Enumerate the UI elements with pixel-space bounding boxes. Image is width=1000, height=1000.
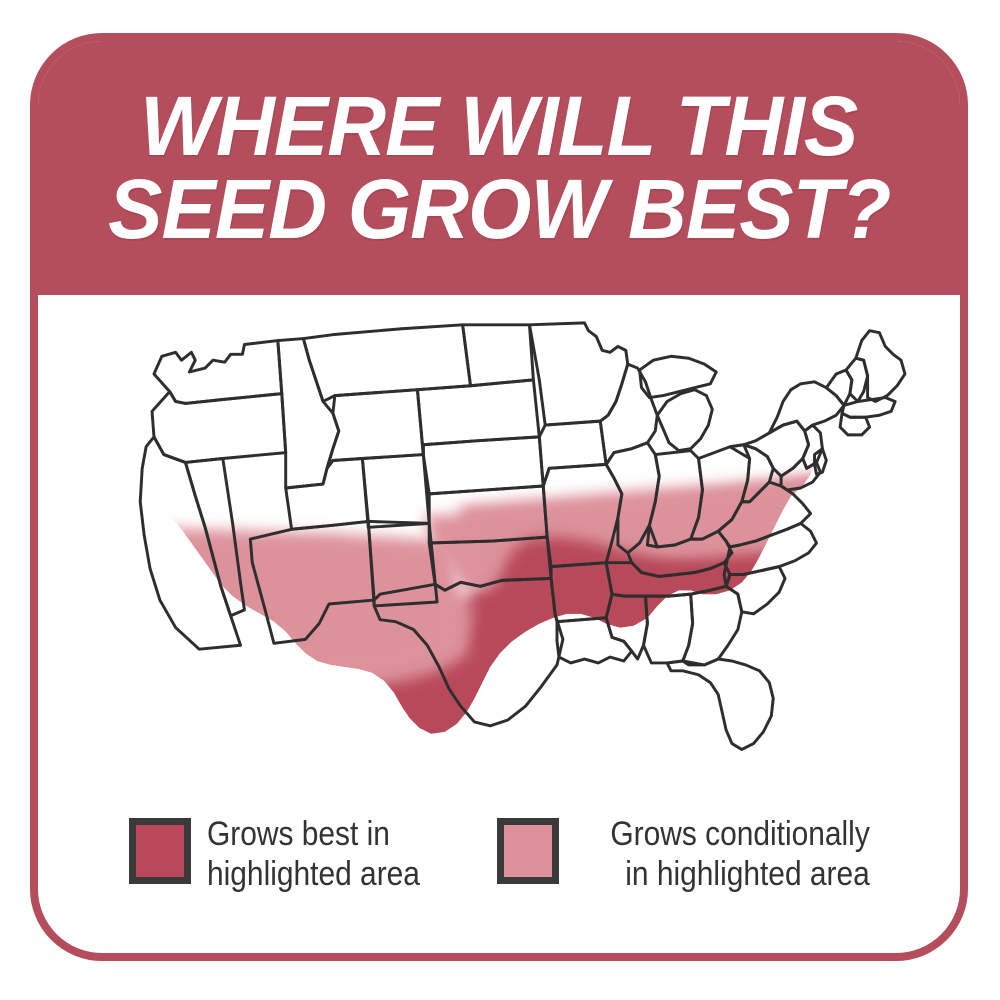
legend-label-grows-best: Grows best in highlighted area xyxy=(207,815,420,895)
state-oregon xyxy=(152,392,286,463)
page-title-line-2: SEED GROW BEST? xyxy=(108,169,890,250)
legend-item-grows-best: Grows best in highlighted area xyxy=(129,815,449,895)
legend-label-grows-best-line1: Grows best in xyxy=(207,815,420,855)
state-montana xyxy=(303,325,470,402)
state-iowa xyxy=(539,421,606,486)
card-header: WHERE WILL THIS SEED GROW BEST? xyxy=(38,41,960,295)
legend-label-grows-conditionally-line2: in highlighted area xyxy=(610,855,869,895)
state-utah xyxy=(286,459,369,530)
state-nebraska xyxy=(423,437,543,494)
state-florida xyxy=(667,659,773,749)
state-michigan xyxy=(657,390,712,451)
state-minnesota xyxy=(529,323,627,425)
state-michigan-up xyxy=(640,356,717,397)
page-title-line-1: WHERE WILL THIS xyxy=(140,86,857,167)
legend-swatch-grows-best xyxy=(129,818,191,884)
legend-item-grows-conditionally: Grows conditionally in highlighted area xyxy=(497,815,870,895)
state-south-carolina xyxy=(726,567,785,614)
legend-label-grows-best-line2: highlighted area xyxy=(207,855,420,895)
state-connecticut-ri xyxy=(840,413,869,435)
legend-swatch-grows-conditionally xyxy=(497,818,559,884)
legend-label-grows-conditionally: Grows conditionally in highlighted area xyxy=(610,815,869,895)
state-washington xyxy=(154,341,282,404)
state-new-jersey xyxy=(803,425,823,468)
state-colorado xyxy=(362,455,429,528)
seed-growing-zone-card: WHERE WILL THIS SEED GROW BEST? xyxy=(30,33,968,961)
united-states-map xyxy=(38,295,960,795)
map-container xyxy=(38,295,960,795)
state-new-york xyxy=(769,382,844,433)
legend-label-grows-conditionally-line1: Grows conditionally xyxy=(610,815,869,855)
state-massachusetts xyxy=(842,398,895,418)
state-north-dakota xyxy=(463,325,534,386)
map-legend: Grows best in highlighted area Grows con… xyxy=(38,801,960,941)
zone-best-shape xyxy=(58,533,960,791)
state-georgia xyxy=(683,586,742,665)
